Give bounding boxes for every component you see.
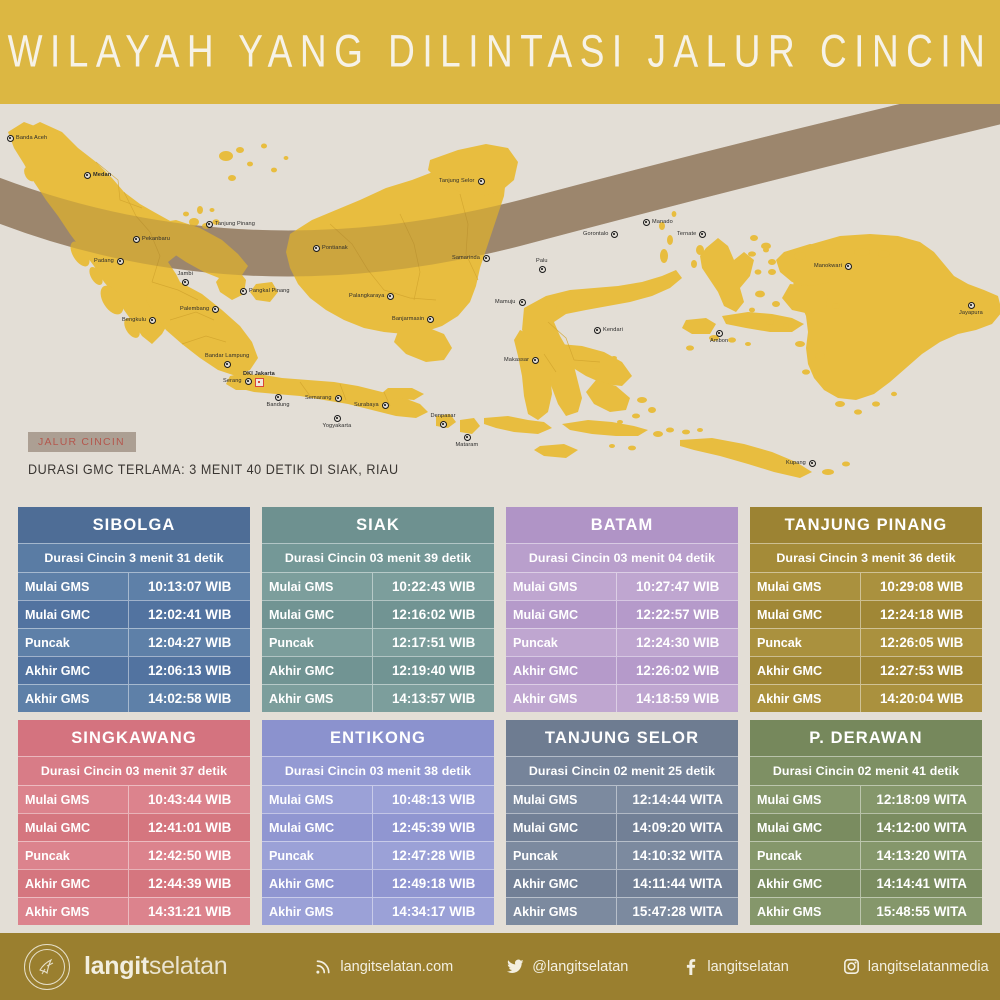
city-label-makassar: Makassar	[504, 357, 529, 363]
card-row: Mulai GMS10:29:08 WIB	[750, 572, 982, 600]
city-dot-ternate	[699, 231, 706, 238]
city-dot-denpasar	[440, 421, 447, 428]
card-row-value: 10:48:13 WIB	[373, 792, 494, 807]
card-row-value: 12:26:02 WIB	[617, 663, 738, 678]
card-row-label: Mulai GMC	[506, 601, 617, 628]
card-duration: Durasi Cincin 02 menit 25 detik	[506, 756, 738, 785]
card-row-label: Puncak	[506, 842, 617, 869]
card-row: Akhir GMC12:26:02 WIB	[506, 656, 738, 684]
card-row-label: Mulai GMS	[18, 786, 129, 813]
card-duration: Durasi Cincin 03 menit 37 detik	[18, 756, 250, 785]
card-row: Mulai GMS10:22:43 WIB	[262, 572, 494, 600]
city-label-denpasar: Denpasar	[431, 413, 456, 419]
card-row-label: Akhir GMS	[506, 685, 617, 712]
location-card-siak: SIAKDurasi Cincin 03 menit 39 detikMulai…	[262, 507, 494, 712]
card-row-label: Akhir GMS	[506, 898, 617, 925]
card-duration: Durasi Cincin 3 menit 36 detik	[750, 543, 982, 572]
card-row-label: Puncak	[262, 629, 373, 656]
city-dot-semarang	[335, 395, 342, 402]
city-label-ternate: Ternate	[677, 231, 696, 237]
city-label-bandar-lampung: Bandar Lampung	[205, 353, 249, 359]
card-row: Akhir GMS15:48:55 WITA	[750, 897, 982, 925]
card-row-label: Akhir GMC	[506, 657, 617, 684]
card-duration: Durasi Cincin 03 menit 04 detik	[506, 543, 738, 572]
card-row: Akhir GMC12:27:53 WIB	[750, 656, 982, 684]
card-row-value: 14:02:58 WIB	[129, 691, 250, 706]
city-label-tanjung-selor: Tanjung Selor	[439, 178, 475, 184]
card-row-label: Mulai GMC	[750, 601, 861, 628]
card-row: Puncak12:42:50 WIB	[18, 841, 250, 869]
city-dot-medan	[84, 172, 91, 179]
city-dot-padang	[117, 258, 124, 265]
card-row: Mulai GMC12:45:39 WIB	[262, 813, 494, 841]
city-dot-yogyakarta	[334, 415, 341, 422]
card-row-label: Puncak	[18, 629, 129, 656]
city-label-mataram: Mataram	[456, 442, 479, 448]
card-row-value: 12:49:18 WIB	[373, 876, 494, 891]
city-label-gorontalo: Gorontalo	[583, 231, 608, 237]
city-dot-pontianak	[313, 245, 320, 252]
card-row-label: Mulai GMS	[750, 573, 861, 600]
card-row-value: 10:43:44 WIB	[129, 792, 250, 807]
card-row: Puncak14:13:20 WITA	[750, 841, 982, 869]
city-label-pekanbaru: Pekanbaru	[142, 236, 170, 242]
card-row-value: 14:11:44 WITA	[617, 876, 738, 891]
city-label-manokwari: Manokwari	[814, 263, 842, 269]
card-row-value: 14:20:04 WIB	[861, 691, 982, 706]
card-row-value: 12:27:53 WIB	[861, 663, 982, 678]
card-row-value: 12:24:18 WIB	[861, 607, 982, 622]
location-card-singkawang: SINGKAWANGDurasi Cincin 03 menit 37 deti…	[18, 720, 250, 925]
card-row-label: Akhir GMS	[750, 685, 861, 712]
city-label-serang: Serang	[223, 378, 242, 384]
card-row-value: 12:24:30 WIB	[617, 635, 738, 650]
card-row-value: 12:17:51 WIB	[373, 635, 494, 650]
city-dot-tanjung-pinang	[206, 221, 213, 228]
city-dot-samarinda	[483, 255, 490, 262]
card-row: Akhir GMS14:13:57 WIB	[262, 684, 494, 712]
city-dot-bengkulu	[149, 317, 156, 324]
city-label-semarang: Semarang	[305, 395, 332, 401]
card-row-label: Mulai GMC	[750, 814, 861, 841]
card-title: SINGKAWANG	[18, 720, 250, 756]
card-title: BATAM	[506, 507, 738, 543]
legend-note: DURASI GMC TERLAMA: 3 MENIT 40 DETIK DI …	[28, 462, 399, 477]
city-label-palangkaraya: Palangkaraya	[349, 293, 384, 299]
card-title: ENTIKONG	[262, 720, 494, 756]
city-label-bengkulu: Bengkulu	[122, 317, 146, 323]
card-row: Akhir GMS14:18:59 WIB	[506, 684, 738, 712]
card-row-label: Puncak	[750, 842, 861, 869]
card-duration: Durasi Cincin 02 menit 41 detik	[750, 756, 982, 785]
twitter-icon	[507, 958, 524, 975]
city-label-tanjung-pinang: Tanjung Pinang	[215, 221, 255, 227]
card-row-value: 12:47:28 WIB	[373, 848, 494, 863]
city-dot-gorontalo	[611, 231, 618, 238]
card-row-list: Mulai GMS10:27:47 WIBMulai GMC12:22:57 W…	[506, 572, 738, 712]
card-row-value: 14:14:41 WITA	[861, 876, 982, 891]
city-label-surabaya: Surabaya	[354, 402, 379, 408]
card-row-label: Akhir GMC	[18, 657, 129, 684]
card-row-label: Mulai GMC	[262, 814, 373, 841]
city-label-banda-aceh: Banda Aceh	[16, 135, 47, 141]
card-row: Mulai GMC14:09:20 WITA	[506, 813, 738, 841]
card-duration: Durasi Cincin 03 menit 39 detik	[262, 543, 494, 572]
city-label-palembang: Palembang	[180, 306, 209, 312]
brand-bold: langit	[84, 952, 149, 980]
card-row: Mulai GMS12:18:09 WITA	[750, 785, 982, 813]
brand-light: selatan	[149, 952, 228, 980]
city-dot-kupang	[809, 460, 816, 467]
city-label-kendari: Kendari	[603, 327, 623, 333]
card-row-label: Mulai GMS	[506, 573, 617, 600]
card-row: Puncak12:26:05 WIB	[750, 628, 982, 656]
city-dot-mataram	[464, 434, 471, 441]
card-row-label: Puncak	[750, 629, 861, 656]
city-label-kupang: Kupang	[786, 460, 806, 466]
city-label-jayapura: Jayapura	[959, 310, 983, 316]
card-row-value: 12:06:13 WIB	[129, 663, 250, 678]
card-row-list: Mulai GMS10:48:13 WIBMulai GMC12:45:39 W…	[262, 785, 494, 925]
card-row-value: 15:48:55 WITA	[861, 904, 982, 919]
footer-link-rss[interactable]: langitselatan.com	[315, 958, 453, 975]
card-duration: Durasi Cincin 03 menit 38 detik	[262, 756, 494, 785]
card-row: Akhir GMC12:19:40 WIB	[262, 656, 494, 684]
city-dot-ambon	[716, 330, 723, 337]
card-row-label: Akhir GMS	[262, 898, 373, 925]
card-title: TANJUNG PINANG	[750, 507, 982, 543]
card-row: Puncak12:47:28 WIB	[262, 841, 494, 869]
card-row-value: 12:04:27 WIB	[129, 635, 250, 650]
card-row-label: Akhir GMC	[262, 870, 373, 897]
city-label-banjarmasin: Banjarmasin	[392, 316, 424, 322]
card-row: Mulai GMS10:48:13 WIB	[262, 785, 494, 813]
card-row-label: Mulai GMS	[262, 786, 373, 813]
card-row-list: Mulai GMS10:13:07 WIBMulai GMC12:02:41 W…	[18, 572, 250, 712]
card-row: Akhir GMS14:02:58 WIB	[18, 684, 250, 712]
city-label-pangkal-pinang: Pangkal Pinang	[249, 288, 290, 294]
city-label-manado: Manado	[652, 219, 673, 225]
footer-link-label: langitselatan.com	[340, 959, 453, 975]
card-row-value: 12:41:01 WIB	[129, 820, 250, 835]
page-header: WILAYAH YANG DILINTASI JALUR CINCIN	[0, 0, 1000, 104]
location-card-p-derawan: P. DERAWANDurasi Cincin 02 menit 41 deti…	[750, 720, 982, 925]
city-label-yogyakarta: Yogyakarta	[323, 423, 352, 429]
city-dot-jambi	[182, 279, 189, 286]
card-row-label: Mulai GMC	[506, 814, 617, 841]
footer-link-facebook[interactable]: langitselatan	[682, 958, 788, 975]
card-row-list: Mulai GMS10:43:44 WIBMulai GMC12:41:01 W…	[18, 785, 250, 925]
city-dot-banjarmasin	[427, 316, 434, 323]
footer-link-label: langitselatan	[707, 959, 788, 975]
instagram-icon	[843, 958, 860, 975]
card-row: Mulai GMC12:24:18 WIB	[750, 600, 982, 628]
city-label-palu: Palu	[536, 258, 548, 264]
city-dot-tanjung-selor	[478, 178, 485, 185]
card-row-label: Puncak	[506, 629, 617, 656]
city-dot-pangkal-pinang	[240, 288, 247, 295]
city-label-samarinda: Samarinda	[452, 255, 480, 261]
city-label-dki-jakarta: DKI Jakarta	[243, 371, 275, 377]
card-row-label: Mulai GMS	[506, 786, 617, 813]
city-dot-palembang	[212, 306, 219, 313]
card-row-value: 12:44:39 WIB	[129, 876, 250, 891]
city-dot-banda-aceh	[7, 135, 14, 142]
footer-social-links: langitselatan.com@langitselatanlangitsel…	[315, 958, 988, 975]
card-row-label: Akhir GMC	[506, 870, 617, 897]
location-card-tanjung-pinang: TANJUNG PINANGDurasi Cincin 3 menit 36 d…	[750, 507, 982, 712]
card-row-value: 14:13:57 WIB	[373, 691, 494, 706]
card-row-list: Mulai GMS12:14:44 WITAMulai GMC14:09:20 …	[506, 785, 738, 925]
city-dot-bandung	[275, 394, 282, 401]
card-row-list: Mulai GMS10:22:43 WIBMulai GMC12:16:02 W…	[262, 572, 494, 712]
footer-logo: langitselatan	[24, 944, 227, 990]
location-card-batam: BATAMDurasi Cincin 03 menit 04 detikMula…	[506, 507, 738, 712]
footer-link-label: langitselatanmedia	[868, 959, 989, 975]
card-row: Akhir GMC14:11:44 WITA	[506, 869, 738, 897]
card-row: Mulai GMS10:27:47 WIB	[506, 572, 738, 600]
card-row: Akhir GMC12:44:39 WIB	[18, 869, 250, 897]
infographic-page: WILAYAH YANG DILINTASI JALUR CINCIN	[0, 0, 1000, 1000]
card-row-value: 14:09:20 WITA	[617, 820, 738, 835]
page-title: WILAYAH YANG DILINTASI JALUR CINCIN	[8, 26, 993, 77]
city-dot-surabaya	[382, 402, 389, 409]
card-row: Mulai GMC12:22:57 WIB	[506, 600, 738, 628]
city-dot-manokwari	[845, 263, 852, 270]
city-dot-kendari	[594, 327, 601, 334]
card-row-value: 10:29:08 WIB	[861, 579, 982, 594]
card-row-label: Mulai GMS	[18, 573, 129, 600]
card-title: SIBOLGA	[18, 507, 250, 543]
city-dot-palangkaraya	[387, 293, 394, 300]
card-row: Puncak12:24:30 WIB	[506, 628, 738, 656]
facebook-icon	[682, 958, 699, 975]
card-row-value: 14:10:32 WITA	[617, 848, 738, 863]
city-dot-pekanbaru	[133, 236, 140, 243]
card-row-list: Mulai GMS10:29:08 WIBMulai GMC12:24:18 W…	[750, 572, 982, 712]
card-title: TANJUNG SELOR	[506, 720, 738, 756]
city-label-medan: Medan	[93, 172, 111, 178]
card-row: Akhir GMS14:34:17 WIB	[262, 897, 494, 925]
card-row: Akhir GMC14:14:41 WITA	[750, 869, 982, 897]
card-title: SIAK	[262, 507, 494, 543]
rss-icon	[315, 958, 332, 975]
city-dot-palu	[539, 266, 546, 273]
card-row-label: Akhir GMS	[750, 898, 861, 925]
card-row: Mulai GMC12:16:02 WIB	[262, 600, 494, 628]
card-row-list: Mulai GMS12:18:09 WITAMulai GMC14:12:00 …	[750, 785, 982, 925]
card-row-label: Akhir GMS	[262, 685, 373, 712]
card-row-value: 10:22:43 WIB	[373, 579, 494, 594]
card-row-value: 14:12:00 WITA	[861, 820, 982, 835]
card-row: Mulai GMC12:41:01 WIB	[18, 813, 250, 841]
card-duration: Durasi Cincin 3 menit 31 detik	[18, 543, 250, 572]
card-row-label: Akhir GMS	[18, 898, 129, 925]
card-row-value: 12:02:41 WIB	[129, 607, 250, 622]
city-dot-jayapura	[968, 302, 975, 309]
card-row-label: Akhir GMC	[18, 870, 129, 897]
card-row-label: Puncak	[18, 842, 129, 869]
capital-marker-dki-jakarta	[255, 378, 264, 387]
location-card-tanjung-selor: TANJUNG SELORDurasi Cincin 02 menit 25 d…	[506, 720, 738, 925]
city-label-ambon: Ambon	[710, 338, 728, 344]
card-row-value: 12:16:02 WIB	[373, 607, 494, 622]
card-row-label: Akhir GMC	[750, 657, 861, 684]
card-row-value: 12:42:50 WIB	[129, 848, 250, 863]
city-dot-mamuju	[519, 299, 526, 306]
page-footer: langitselatan langitselatan.com@langitse…	[0, 933, 1000, 1000]
card-row-value: 14:18:59 WIB	[617, 691, 738, 706]
footer-link-label: @langitselatan	[532, 959, 628, 975]
seal-inner-ring	[29, 949, 65, 985]
card-row-label: Akhir GMS	[18, 685, 129, 712]
city-label-pontianak: Pontianak	[322, 245, 348, 251]
city-dot-bandar-lampung	[224, 361, 231, 368]
card-row: Mulai GMC14:12:00 WITA	[750, 813, 982, 841]
card-row: Akhir GMS15:47:28 WITA	[506, 897, 738, 925]
card-row-value: 14:34:17 WIB	[373, 904, 494, 919]
card-row: Mulai GMS12:14:44 WITA	[506, 785, 738, 813]
card-row: Akhir GMS14:20:04 WIB	[750, 684, 982, 712]
card-row-value: 12:45:39 WIB	[373, 820, 494, 835]
city-dot-serang	[245, 378, 252, 385]
card-row-value: 12:22:57 WIB	[617, 607, 738, 622]
city-dot-makassar	[532, 357, 539, 364]
card-row-label: Mulai GMS	[262, 573, 373, 600]
card-row-value: 12:26:05 WIB	[861, 635, 982, 650]
card-row-value: 10:27:47 WIB	[617, 579, 738, 594]
card-row-value: 15:47:28 WITA	[617, 904, 738, 919]
card-title: P. DERAWAN	[750, 720, 982, 756]
card-row-value: 12:19:40 WIB	[373, 663, 494, 678]
footer-link-twitter[interactable]: @langitselatan	[507, 958, 628, 975]
city-label-bandung: Bandung	[267, 402, 290, 408]
card-row: Puncak12:04:27 WIB	[18, 628, 250, 656]
legend-badge-jalur-cincin: JALUR CINCIN	[28, 432, 136, 452]
card-row-label: Mulai GMC	[18, 601, 129, 628]
city-label-mamuju: Mamuju	[495, 299, 516, 305]
card-row: Mulai GMC12:02:41 WIB	[18, 600, 250, 628]
card-row: Akhir GMC12:49:18 WIB	[262, 869, 494, 897]
card-row: Puncak12:17:51 WIB	[262, 628, 494, 656]
card-row-label: Mulai GMS	[750, 786, 861, 813]
card-row-label: Mulai GMC	[18, 814, 129, 841]
city-dot-manado	[643, 219, 650, 226]
card-row-label: Akhir GMC	[750, 870, 861, 897]
map-legend: JALUR CINCIN DURASI GMC TERLAMA: 3 MENIT…	[28, 432, 399, 476]
card-row: Akhir GMC12:06:13 WIB	[18, 656, 250, 684]
location-card-entikong: ENTIKONGDurasi Cincin 03 menit 38 detikM…	[262, 720, 494, 925]
city-label-jambi: Jambi	[178, 271, 193, 277]
card-row: Mulai GMS10:13:07 WIB	[18, 572, 250, 600]
card-row-value: 12:18:09 WITA	[861, 792, 982, 807]
location-card-grid: SIBOLGADurasi Cincin 3 menit 31 detikMul…	[18, 507, 982, 925]
card-row: Puncak14:10:32 WITA	[506, 841, 738, 869]
seal-bird-icon	[36, 956, 58, 978]
location-card-sibolga: SIBOLGADurasi Cincin 3 menit 31 detikMul…	[18, 507, 250, 712]
card-row-value: 12:14:44 WITA	[617, 792, 738, 807]
card-row: Akhir GMS14:31:21 WIB	[18, 897, 250, 925]
footer-link-instagram[interactable]: langitselatanmedia	[843, 958, 989, 975]
brand-wordmark: langitselatan	[84, 952, 227, 981]
card-row: Mulai GMS10:43:44 WIB	[18, 785, 250, 813]
card-row-value: 14:13:20 WITA	[861, 848, 982, 863]
langitselatan-seal-icon	[24, 944, 70, 990]
card-row-label: Akhir GMC	[262, 657, 373, 684]
city-label-padang: Padang	[94, 258, 114, 264]
card-row-label: Puncak	[262, 842, 373, 869]
card-row-value: 14:31:21 WIB	[129, 904, 250, 919]
card-row-value: 10:13:07 WIB	[129, 579, 250, 594]
card-row-label: Mulai GMC	[262, 601, 373, 628]
